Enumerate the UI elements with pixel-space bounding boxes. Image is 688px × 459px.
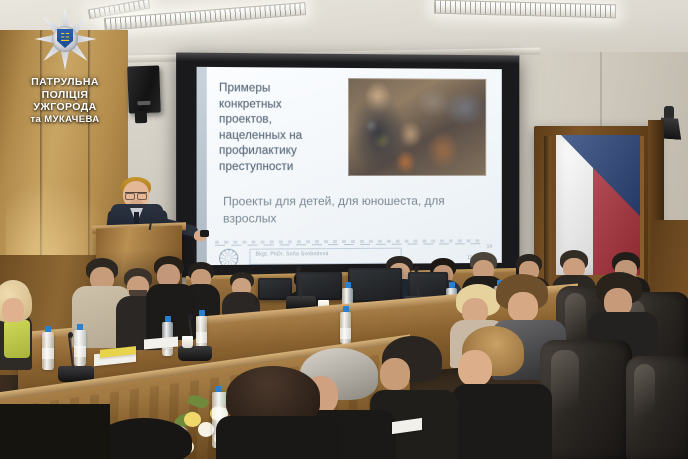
watermark-line-3: УЖГОРОДА — [6, 101, 124, 114]
water-bottle — [74, 330, 86, 366]
attendee-head — [380, 358, 410, 390]
water-bottle — [196, 316, 207, 349]
conference-chair — [540, 340, 632, 459]
attendee-scarf — [4, 320, 30, 358]
watermark-line-2: ПОЛІЦІЯ — [6, 89, 124, 102]
desk-microphone — [178, 346, 212, 361]
attendee-torso — [0, 404, 110, 459]
eyeglasses — [125, 192, 147, 198]
ukrainian-police-star-emblem: ☳ — [34, 8, 96, 70]
slide-subtitle: Проекты для детей, для юношеста, для взр… — [223, 193, 472, 228]
paper-cup — [182, 336, 193, 348]
slide-embedded-photo — [348, 78, 486, 176]
slide-title: Примеры конкретных проектов, нацеленных … — [219, 81, 332, 175]
slide-page-number: 14 — [487, 244, 492, 250]
wall-mounted-loudspeaker — [127, 65, 161, 113]
watermark-text: ПАТРУЛЬНА ПОЛІЦІЯ УЖГОРОДА та МУКАЧЕВА — [6, 76, 124, 126]
watermark-logo: ☳ ПАТРУЛЬНА ПОЛІЦІЯ УЖГОРОДА та МУКАЧЕВА — [6, 4, 124, 136]
watermark-line-4: та МУКАЧЕВА — [6, 114, 124, 127]
projection-screen: Примеры конкретных проектов, нацеленных … — [176, 53, 519, 278]
laptop — [348, 268, 402, 302]
water-bottle — [42, 332, 54, 370]
watermark-line-1: ПАТРУЛЬНА — [6, 76, 124, 89]
conference-chair — [626, 356, 688, 459]
attendee-hair — [96, 418, 192, 459]
attendee-head — [508, 292, 538, 322]
attendee-torso — [452, 384, 552, 459]
attendee-head — [2, 298, 24, 322]
presentation-clicker — [200, 230, 209, 237]
screen-top-bar — [176, 53, 519, 65]
slide-emblem-icon — [219, 249, 238, 265]
attendee-torso — [216, 416, 342, 459]
water-bottle — [340, 312, 351, 344]
trident-icon: ☳ — [60, 32, 70, 44]
attendee-head — [458, 350, 492, 386]
slide-footer-text: Bkgt. PhDr. Soňa Svobodová — [256, 251, 329, 258]
presentation-slide: Примеры конкретных проектов, нацеленных … — [197, 67, 502, 265]
conference-room-photograph: Примеры конкретных проектов, нацеленных … — [0, 0, 688, 459]
